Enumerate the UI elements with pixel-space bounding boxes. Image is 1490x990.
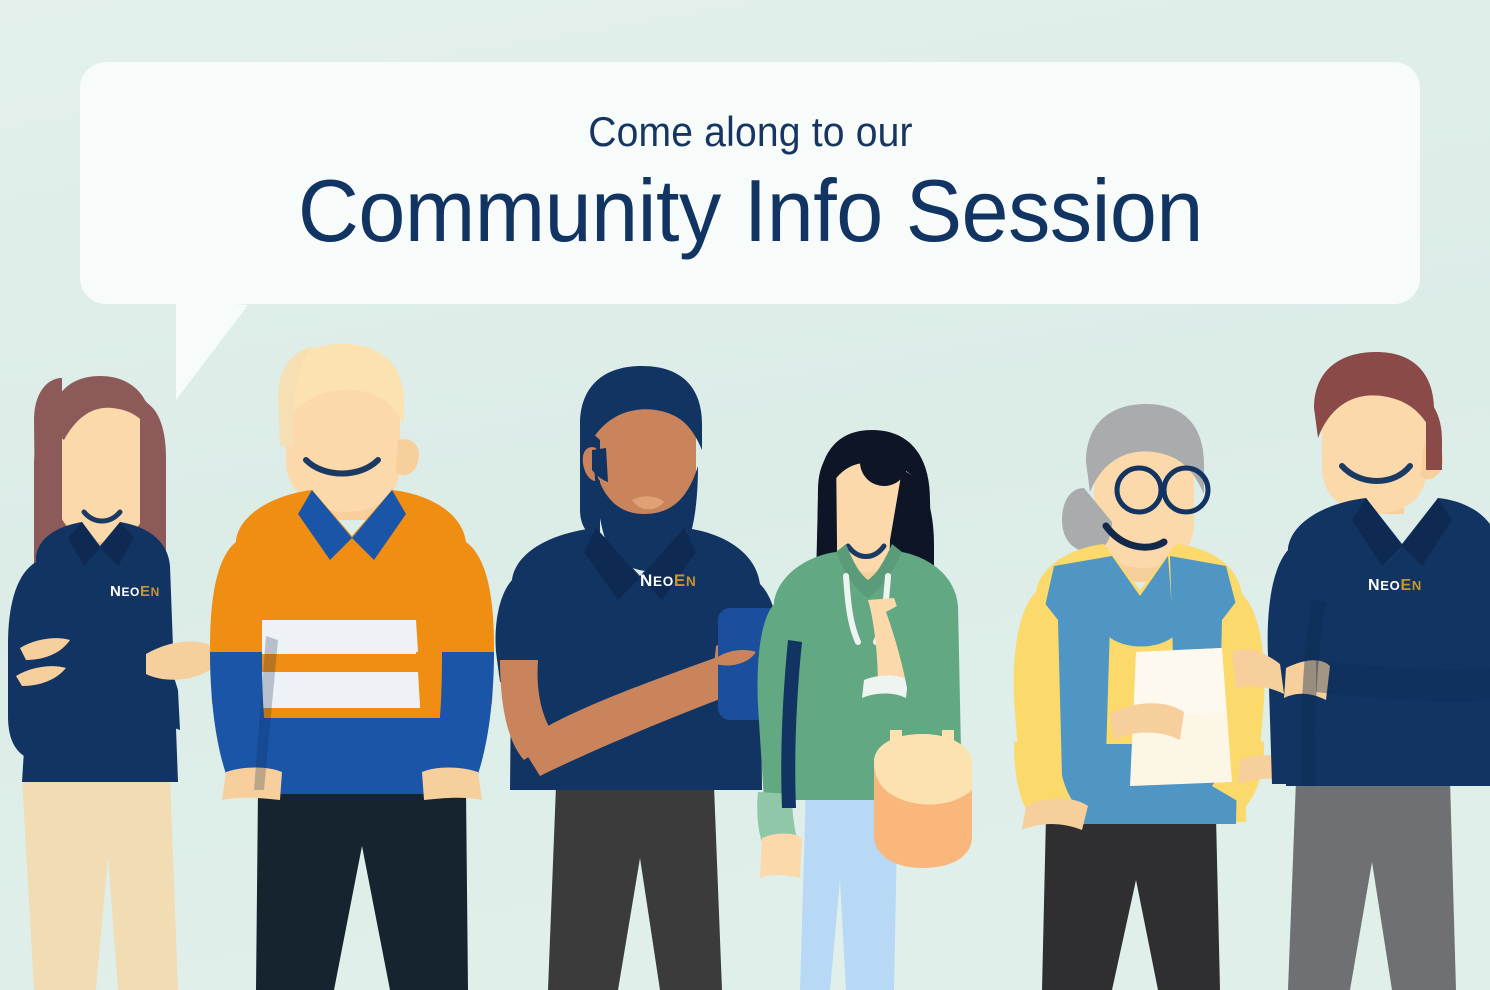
- illustration-artwork: NEOEN NEOEN NEOEN: [0, 0, 1490, 990]
- poster-canvas: NEOEN NEOEN NEOEN Come along to our Comm…: [0, 0, 1490, 990]
- neoen-logo-person-6: NEOEN: [1368, 577, 1422, 594]
- neoen-logo-person-3: NEOEN: [640, 571, 696, 590]
- neoen-logo-person-1: NEOEN: [110, 583, 160, 600]
